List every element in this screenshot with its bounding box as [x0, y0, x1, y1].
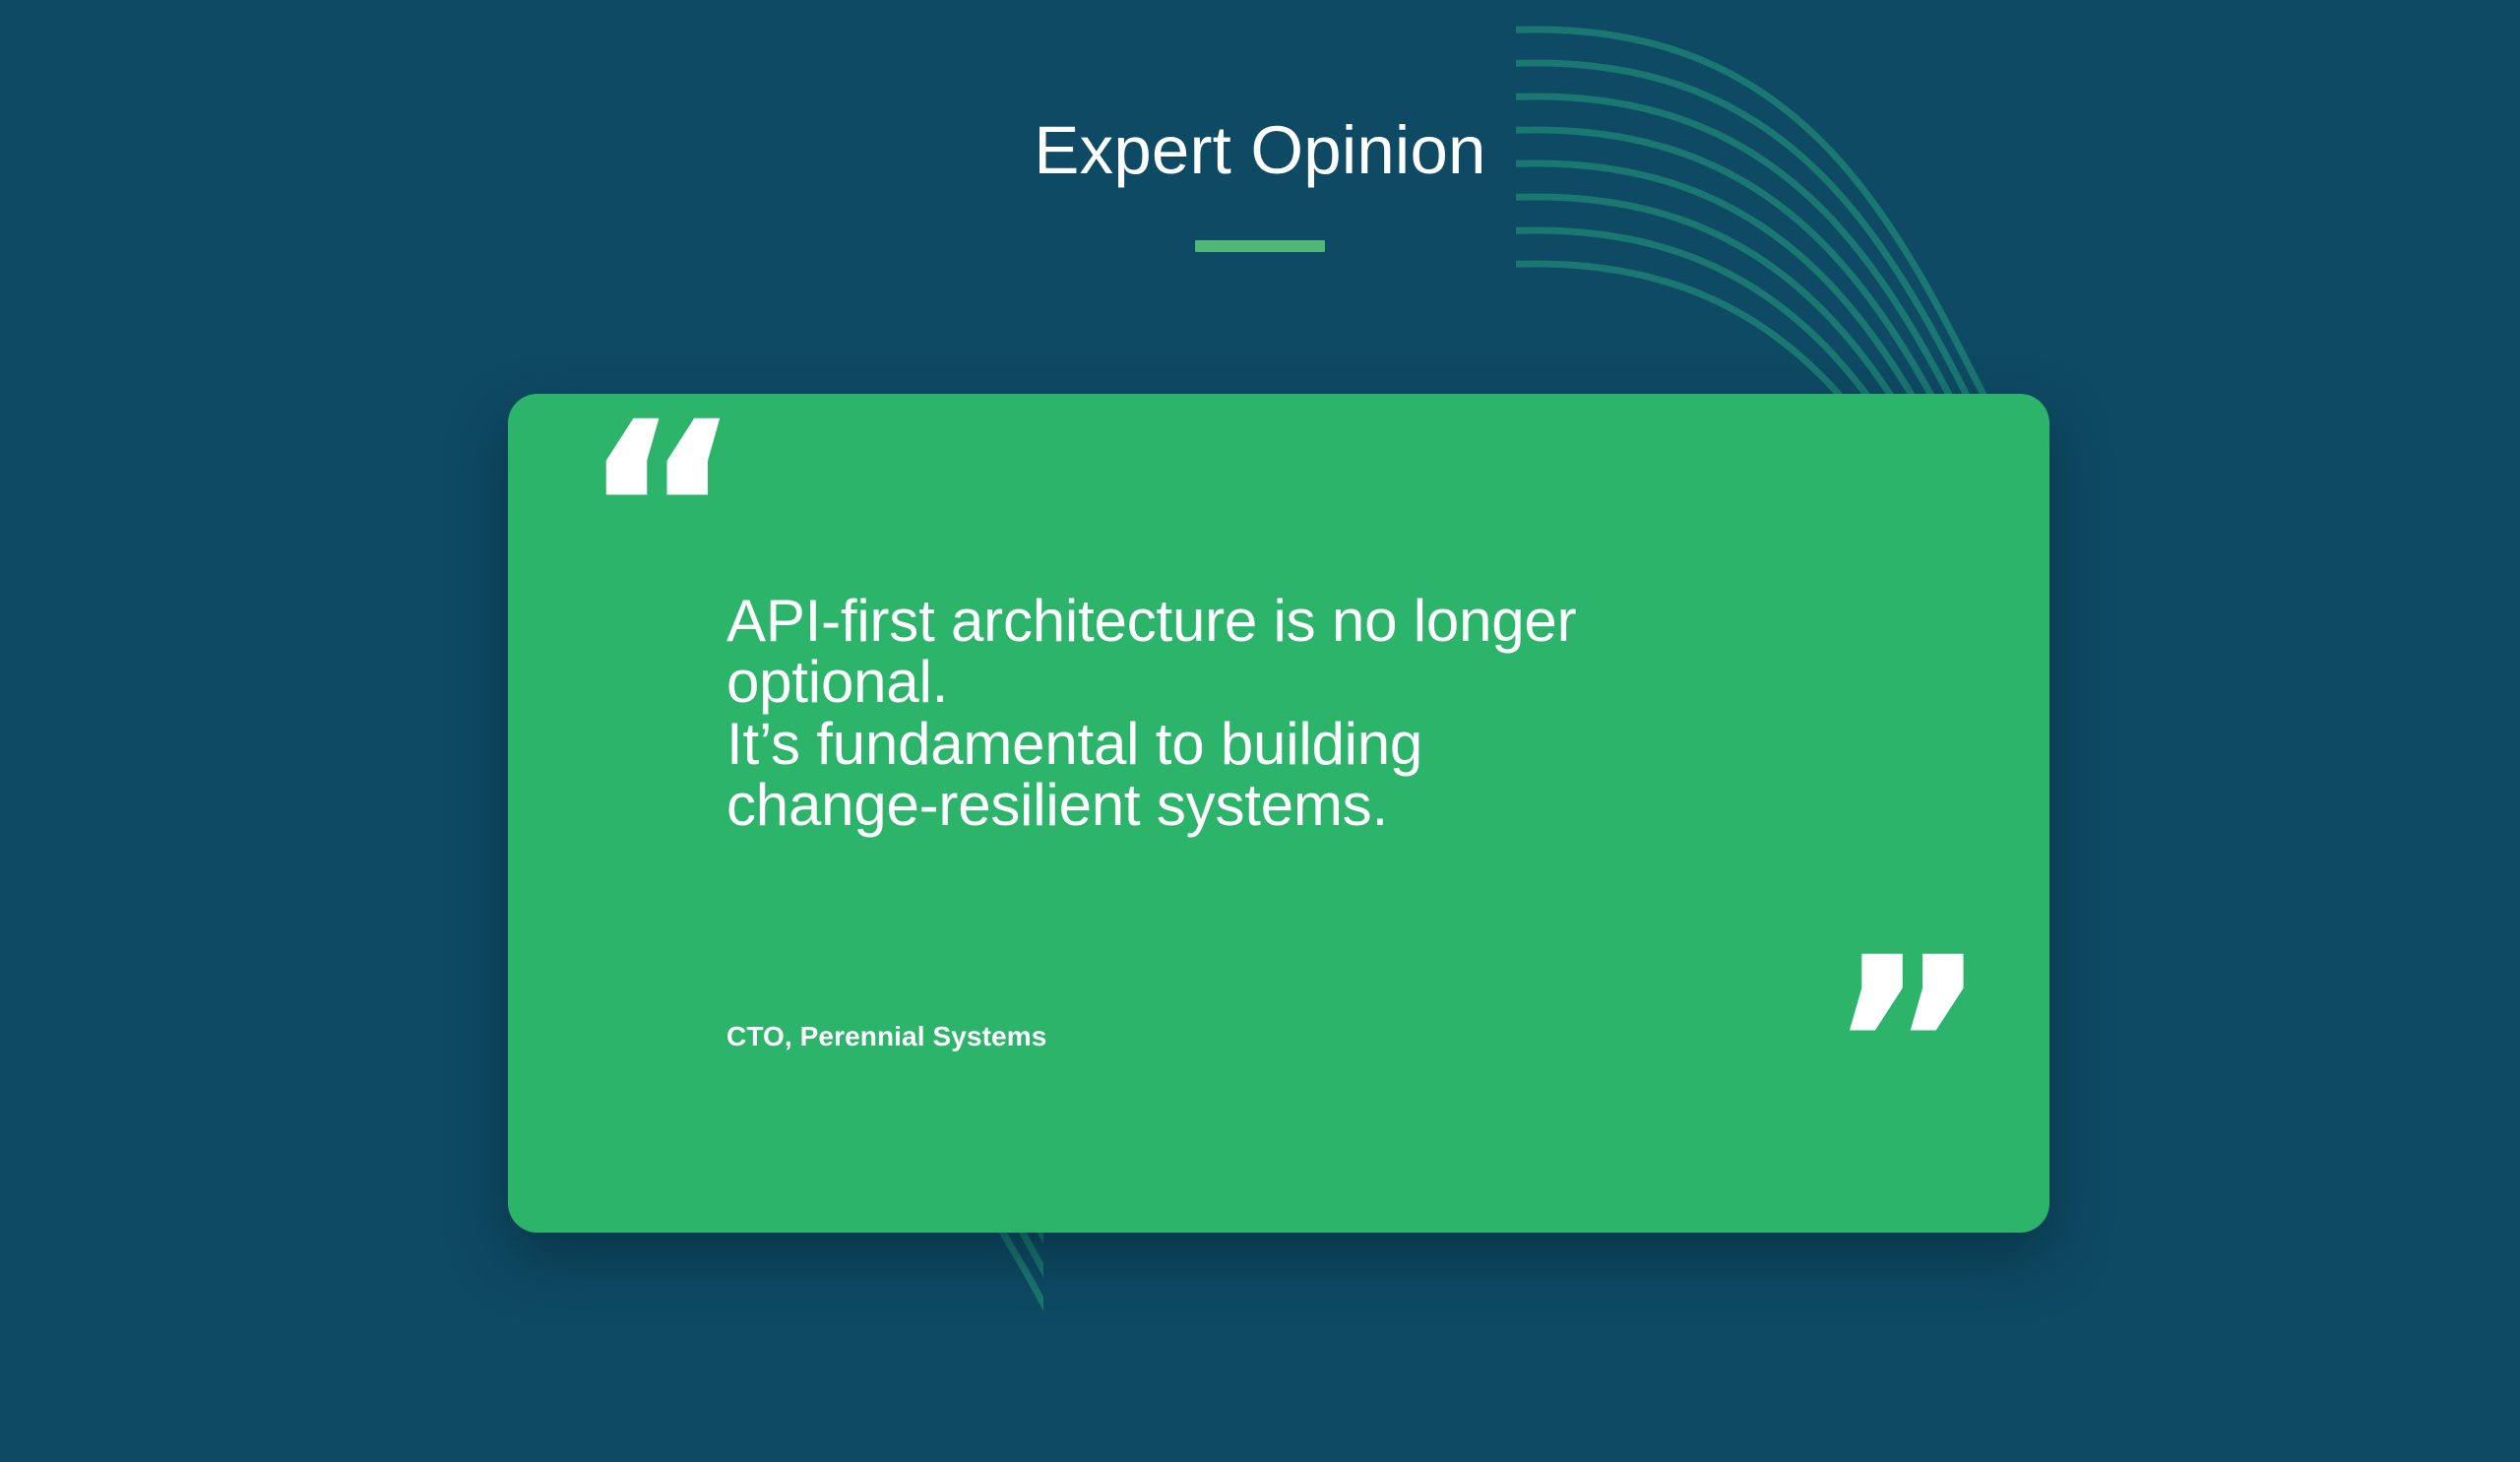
- slide-header: Expert Opinion: [0, 116, 2520, 252]
- quote-line: It’s fundamental to building: [726, 714, 1986, 775]
- quote-card: “ API-first architecture is no longer op…: [508, 394, 2049, 1233]
- close-quote-icon: ”: [1827, 925, 1988, 1172]
- quote-attribution: CTO, Perennial Systems: [726, 1021, 1046, 1052]
- open-quote-icon: “: [581, 390, 742, 636]
- quote-line: API-first architecture is no longer: [726, 591, 1986, 652]
- page-title: Expert Opinion: [0, 116, 2520, 184]
- quote-text: API-first architecture is no longer opti…: [726, 591, 1986, 837]
- title-accent-bar: [1195, 240, 1325, 252]
- quote-line: optional.: [726, 652, 1986, 713]
- quote-line: change-resilient systems.: [726, 775, 1986, 836]
